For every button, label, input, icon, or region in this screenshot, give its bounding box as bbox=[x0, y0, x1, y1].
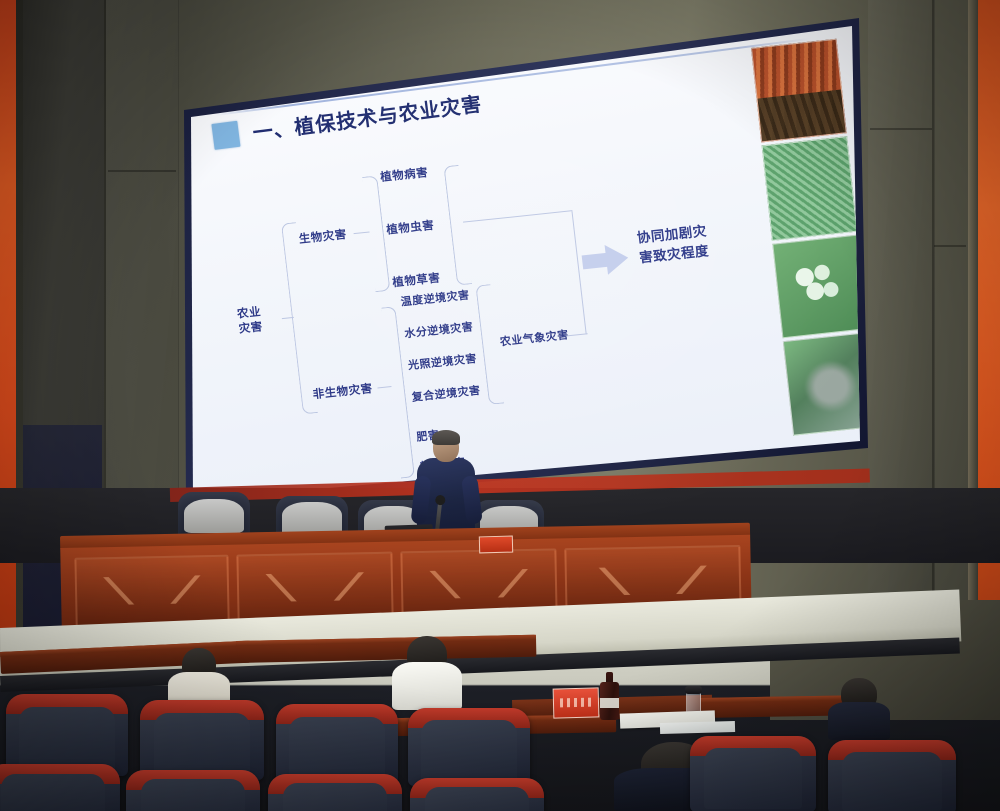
biological-to-arrow-line bbox=[463, 210, 573, 223]
diagram-result-text: 协同加剧灾 害致灾程度 bbox=[636, 215, 770, 269]
dark-bottle bbox=[600, 672, 619, 720]
meteorological-join-line bbox=[566, 333, 588, 337]
diagram-root-label: 农业 灾害 bbox=[236, 304, 263, 336]
podium-name-plate bbox=[479, 536, 513, 554]
nonbiological-stem bbox=[377, 386, 391, 389]
auditorium-seat[interactable] bbox=[0, 764, 120, 811]
node-light-stress: 光照逆境灾害 bbox=[407, 352, 477, 373]
auditorium-seat[interactable] bbox=[828, 740, 956, 811]
wall-seam bbox=[934, 245, 966, 247]
green-field-pest-photo bbox=[762, 136, 858, 240]
podium-panel bbox=[74, 555, 229, 628]
root-line-2: 灾害 bbox=[238, 319, 264, 336]
red-name-placard bbox=[553, 687, 600, 718]
node-temperature-stress: 温度逆境灾害 bbox=[400, 288, 470, 309]
branch-nonbiological-label: 非生物灾害 bbox=[312, 381, 373, 402]
attendee-torso bbox=[828, 702, 890, 740]
wall-panel bbox=[868, 0, 935, 690]
node-agro-meteorological-disaster: 农业气象灾害 bbox=[499, 328, 569, 349]
screen-surface: 一、植保技术与农业灾害 农业 灾害 生物灾害 bbox=[178, 18, 868, 508]
node-plant-weed: 植物草害 bbox=[392, 270, 441, 290]
attendee bbox=[828, 678, 890, 740]
crop-root-rot-photo bbox=[751, 39, 847, 143]
auditorium-seat[interactable] bbox=[126, 770, 260, 811]
wall-seam bbox=[108, 170, 176, 172]
auditorium-seat[interactable] bbox=[268, 774, 402, 811]
left-accent-strip bbox=[0, 0, 16, 663]
wall-seam bbox=[870, 128, 932, 130]
biological-gather-brace bbox=[443, 165, 472, 286]
node-plant-disease: 植物病害 bbox=[379, 165, 428, 185]
auditorium-seat[interactable] bbox=[276, 704, 398, 784]
left-accent-shadow bbox=[16, 0, 23, 663]
right-accent-shadow bbox=[968, 0, 978, 690]
paper-documents bbox=[660, 721, 735, 734]
attendee-torso bbox=[392, 662, 462, 710]
branch-biological-label: 生物灾害 bbox=[298, 227, 347, 247]
auditorium-seat[interactable] bbox=[408, 708, 530, 786]
node-compound-stress: 复合逆境灾害 bbox=[411, 384, 481, 405]
presenter-hair bbox=[432, 430, 460, 445]
auditorium-seat[interactable] bbox=[690, 736, 816, 811]
auditorium-seat[interactable] bbox=[140, 700, 264, 780]
wall-seam bbox=[932, 0, 934, 690]
right-accent-strip bbox=[978, 0, 1000, 690]
led-display-screen[interactable]: 一、植保技术与农业灾害 农业 灾害 生物灾害 bbox=[178, 18, 868, 508]
lecture-hall-scene: 一、植保技术与农业灾害 农业 灾害 生物灾害 bbox=[0, 0, 1000, 811]
auditorium-seat[interactable] bbox=[410, 778, 544, 811]
node-plant-pest: 植物虫害 bbox=[386, 218, 435, 238]
biological-stem bbox=[354, 232, 370, 235]
grape-cluster-disease-photo bbox=[772, 234, 868, 338]
arrow-right-icon bbox=[581, 243, 630, 278]
attendee bbox=[392, 636, 462, 710]
node-water-stress: 水分逆境灾害 bbox=[404, 320, 474, 341]
